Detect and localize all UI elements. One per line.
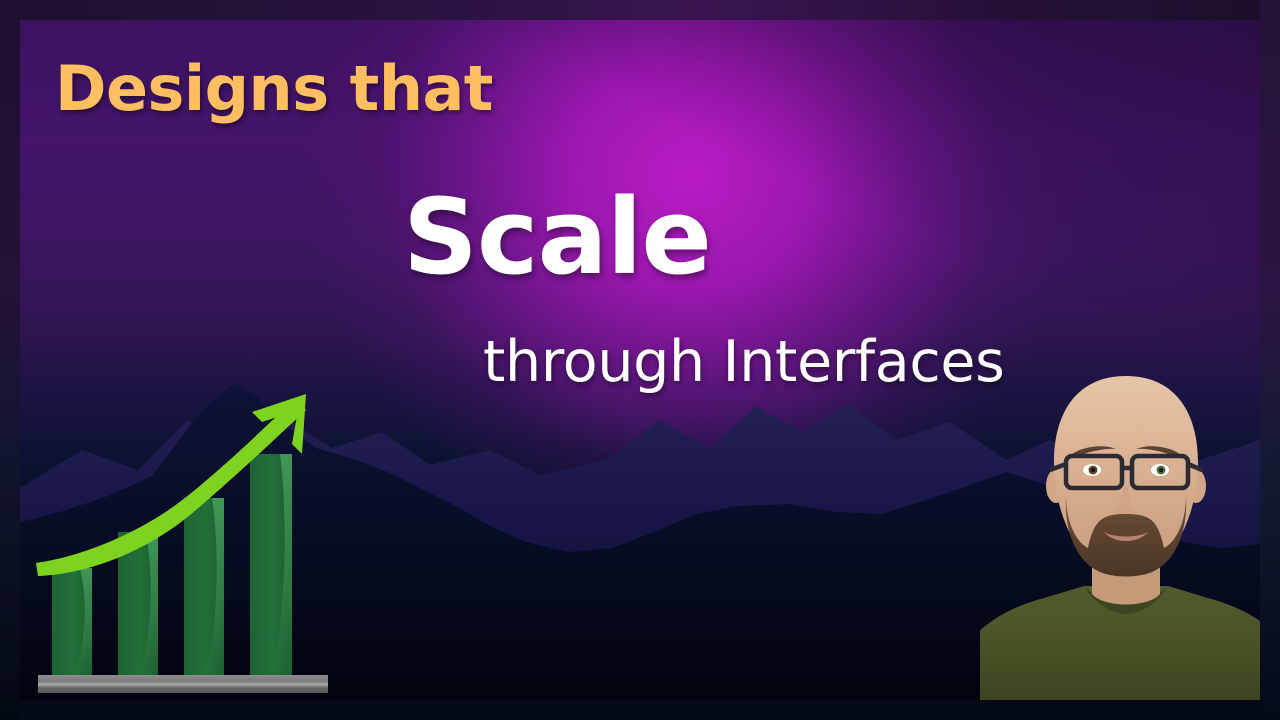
growth-chart-illustration [30, 370, 360, 700]
frame-border-right [1260, 0, 1280, 720]
frame-border-top [0, 0, 1280, 20]
chart-bar-1 [52, 568, 92, 678]
chart-bar-4 [250, 454, 292, 678]
slide-frame: Designs that Scale through Interfaces [0, 0, 1280, 720]
frame-border-left [0, 0, 20, 720]
chart-baseline-platform [38, 675, 328, 693]
chart-bar-3 [184, 498, 224, 678]
slide-canvas: Designs that Scale through Interfaces [20, 20, 1260, 700]
headline-subtitle: through Interfaces [483, 334, 1005, 391]
frame-border-bottom [0, 700, 1280, 720]
page-title: Scale [403, 185, 711, 289]
presenter-photo [980, 370, 1260, 700]
headline-kicker: Designs that [55, 58, 493, 120]
